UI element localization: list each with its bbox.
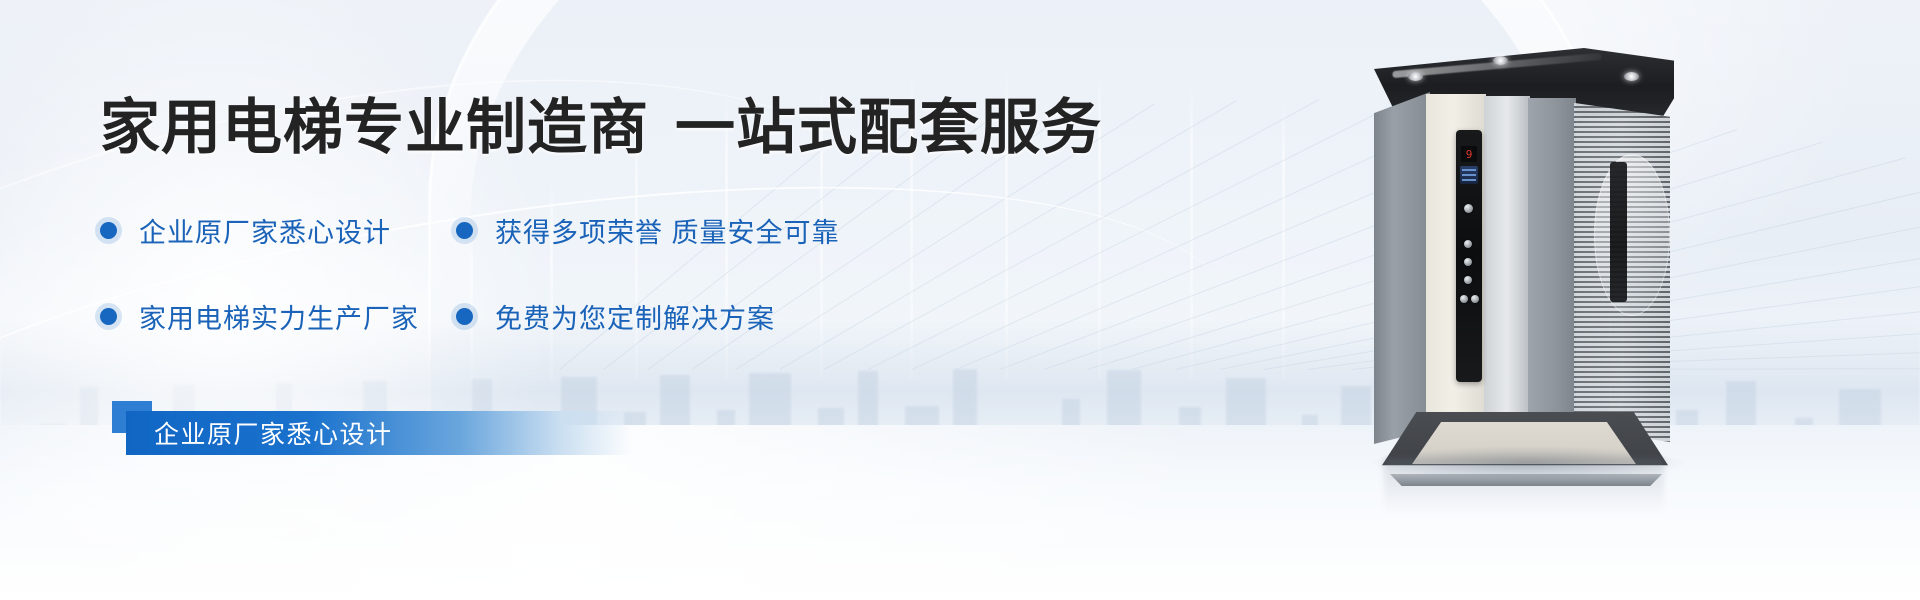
ceiling-light-2	[1493, 56, 1508, 65]
bullet-dot-icon	[456, 308, 473, 325]
feature-item-2: 获得多项荣誉 质量安全可靠	[456, 211, 840, 250]
headline-part-1: 家用电梯专业制造商	[100, 94, 649, 161]
ribbon-body[interactable]: 企业原厂家悉心设计	[126, 411, 632, 455]
hero-banner: 9 家用电梯专业制造商一站式配套服务 企业原厂家悉心设计	[0, 0, 1920, 600]
feature-label: 企业原厂家悉心设计	[139, 211, 391, 250]
ribbon-tag[interactable]: 企业原厂家悉心设计	[112, 411, 632, 455]
cabin-wall-left	[1374, 92, 1430, 444]
door-open-button[interactable]	[1460, 295, 1468, 303]
feature-item-4: 免费为您定制解决方案	[456, 297, 775, 336]
control-panel-reflection	[1610, 162, 1627, 302]
floor-display: 9	[1461, 146, 1477, 162]
feature-row-1: 企业原厂家悉心设计 获得多项荣誉 质量安全可靠	[100, 203, 1120, 259]
mirror-oval-decor	[1594, 154, 1670, 316]
door-close-button[interactable]	[1471, 295, 1479, 303]
feature-list: 企业原厂家悉心设计 获得多项荣誉 质量安全可靠 家用电梯实力生产厂家 免费为您定…	[100, 203, 1120, 345]
bullet-dot-icon	[456, 222, 473, 239]
headline-part-2: 一站式配套服务	[675, 94, 1102, 161]
feature-item-3: 家用电梯实力生产厂家	[100, 297, 456, 336]
control-panel: 9	[1456, 130, 1482, 382]
floor-button-1[interactable]	[1464, 240, 1472, 248]
page-title: 家用电梯专业制造商一站式配套服务	[100, 96, 1120, 161]
feature-label: 免费为您定制解决方案	[495, 297, 775, 336]
copy-block: 家用电梯专业制造商一站式配套服务 企业原厂家悉心设计 获得多项荣誉 质量安全可靠…	[100, 96, 1120, 345]
ceiling-light-1	[1408, 72, 1423, 81]
bullet-dot-icon	[100, 222, 117, 239]
floor-button-2[interactable]	[1464, 258, 1472, 266]
elevator-interior: 9	[1368, 82, 1678, 444]
feature-item-1: 企业原厂家悉心设计	[100, 211, 456, 250]
cabin-wall-back-steel	[1484, 96, 1530, 436]
feature-row-2: 家用电梯实力生产厂家 免费为您定制解决方案	[100, 289, 1120, 345]
ribbon-label: 企业原厂家悉心设计	[154, 415, 393, 451]
lcd-screen	[1460, 166, 1478, 184]
feature-label: 获得多项荣誉 质量安全可靠	[495, 211, 840, 250]
ceiling-light-3	[1624, 72, 1639, 81]
floor-button-3[interactable]	[1464, 276, 1472, 284]
cabin-reflection	[1384, 458, 1664, 514]
feature-label: 家用电梯实力生产厂家	[139, 297, 419, 336]
bullet-dot-icon	[100, 308, 117, 325]
elevator-cabin-image: 9	[1368, 48, 1678, 468]
door-button[interactable]	[1464, 204, 1473, 213]
cabin-wall-corner	[1528, 98, 1576, 428]
